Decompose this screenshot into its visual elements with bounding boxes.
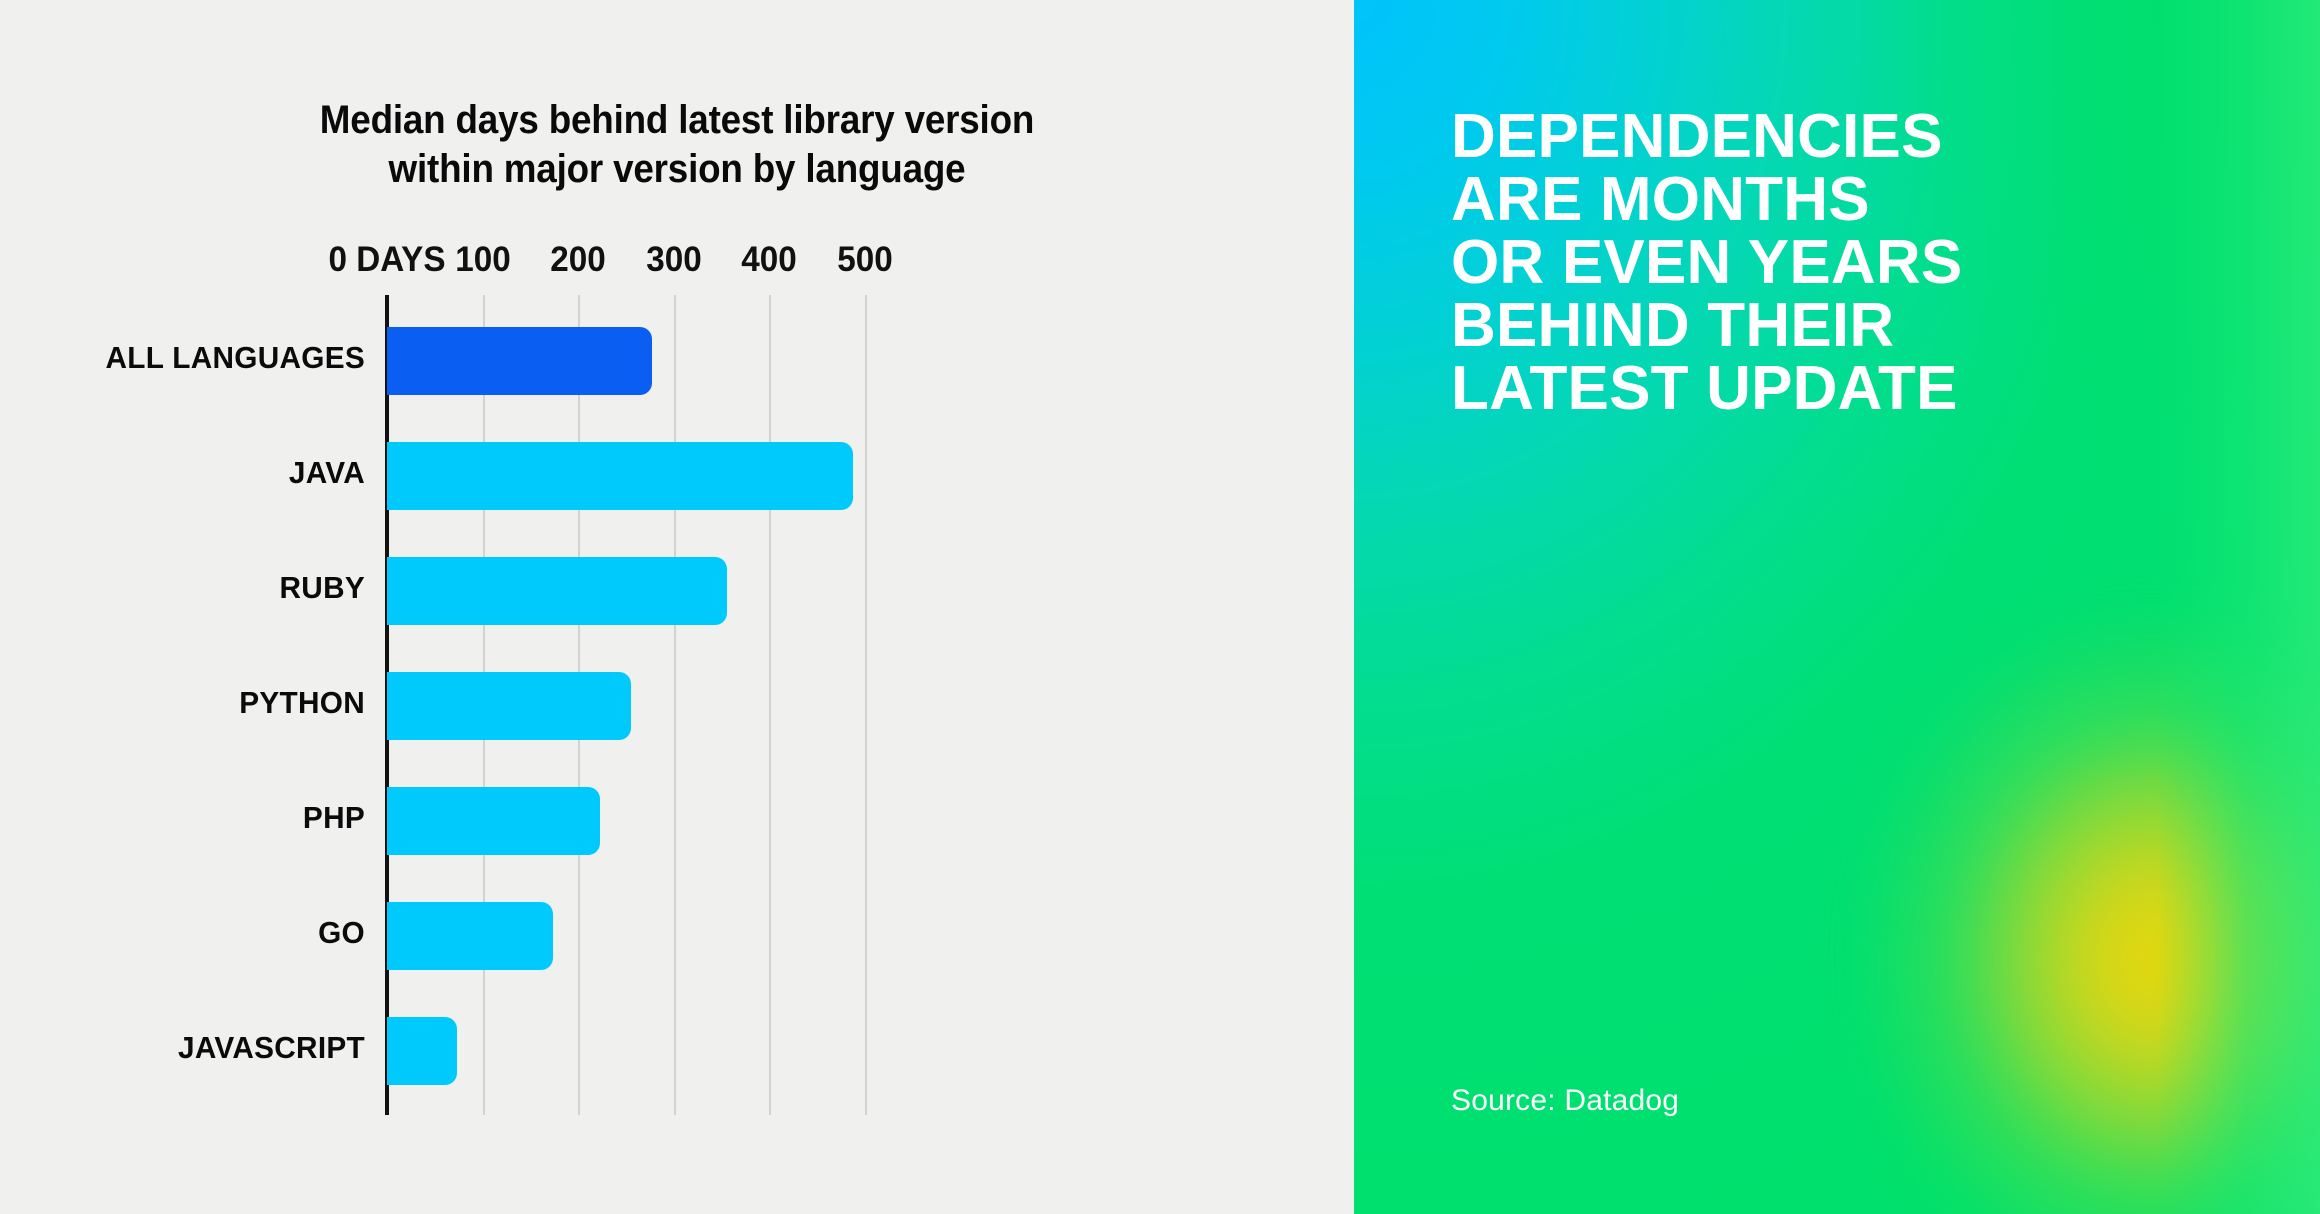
bar-php[interactable] <box>387 787 600 855</box>
category-label-ruby: RUBY <box>15 570 365 606</box>
bar-row[interactable] <box>387 902 867 970</box>
hero-panel: DEPENDENCIES ARE MONTHS OR EVEN YEARS BE… <box>1354 0 2320 1214</box>
bar-python[interactable] <box>387 672 631 740</box>
bar-ruby[interactable] <box>387 557 727 625</box>
x-tick-label-0: 0 DAYS <box>328 240 445 280</box>
bar-row[interactable] <box>387 442 867 510</box>
bar-javascript[interactable] <box>387 1017 457 1085</box>
x-tick-label-400: 400 <box>741 240 796 280</box>
category-label-go: GO <box>15 915 365 951</box>
x-tick-label-100: 100 <box>455 240 510 280</box>
x-tick-label-300: 300 <box>646 240 701 280</box>
category-label-all-languages: ALL LANGUAGES <box>15 340 365 376</box>
chart-panel: Median days behind latest library versio… <box>0 0 1354 1214</box>
x-tick-label-200: 200 <box>550 240 605 280</box>
hero-headline: DEPENDENCIES ARE MONTHS OR EVEN YEARS BE… <box>1451 105 2211 420</box>
bar-row[interactable] <box>387 557 867 625</box>
source-credit: Source: Datadog <box>1451 1084 1679 1118</box>
bar-java[interactable] <box>387 442 853 510</box>
bar-row[interactable] <box>387 787 867 855</box>
bar-chart-plot-area: 0 DAYS100200300400500 <box>387 295 867 1115</box>
category-label-python: PYTHON <box>15 685 365 721</box>
infographic-root: Median days behind latest library versio… <box>0 0 2320 1214</box>
bar-row[interactable] <box>387 327 867 395</box>
category-label-php: PHP <box>15 800 365 836</box>
category-label-java: JAVA <box>15 455 365 491</box>
bar-row[interactable] <box>387 672 867 740</box>
bar-all-languages[interactable] <box>387 327 652 395</box>
category-label-javascript: JAVASCRIPT <box>15 1030 365 1066</box>
bar-row[interactable] <box>387 1017 867 1085</box>
chart-title: Median days behind latest library versio… <box>54 96 1300 194</box>
bar-go[interactable] <box>387 902 553 970</box>
x-tick-label-500: 500 <box>837 240 892 280</box>
